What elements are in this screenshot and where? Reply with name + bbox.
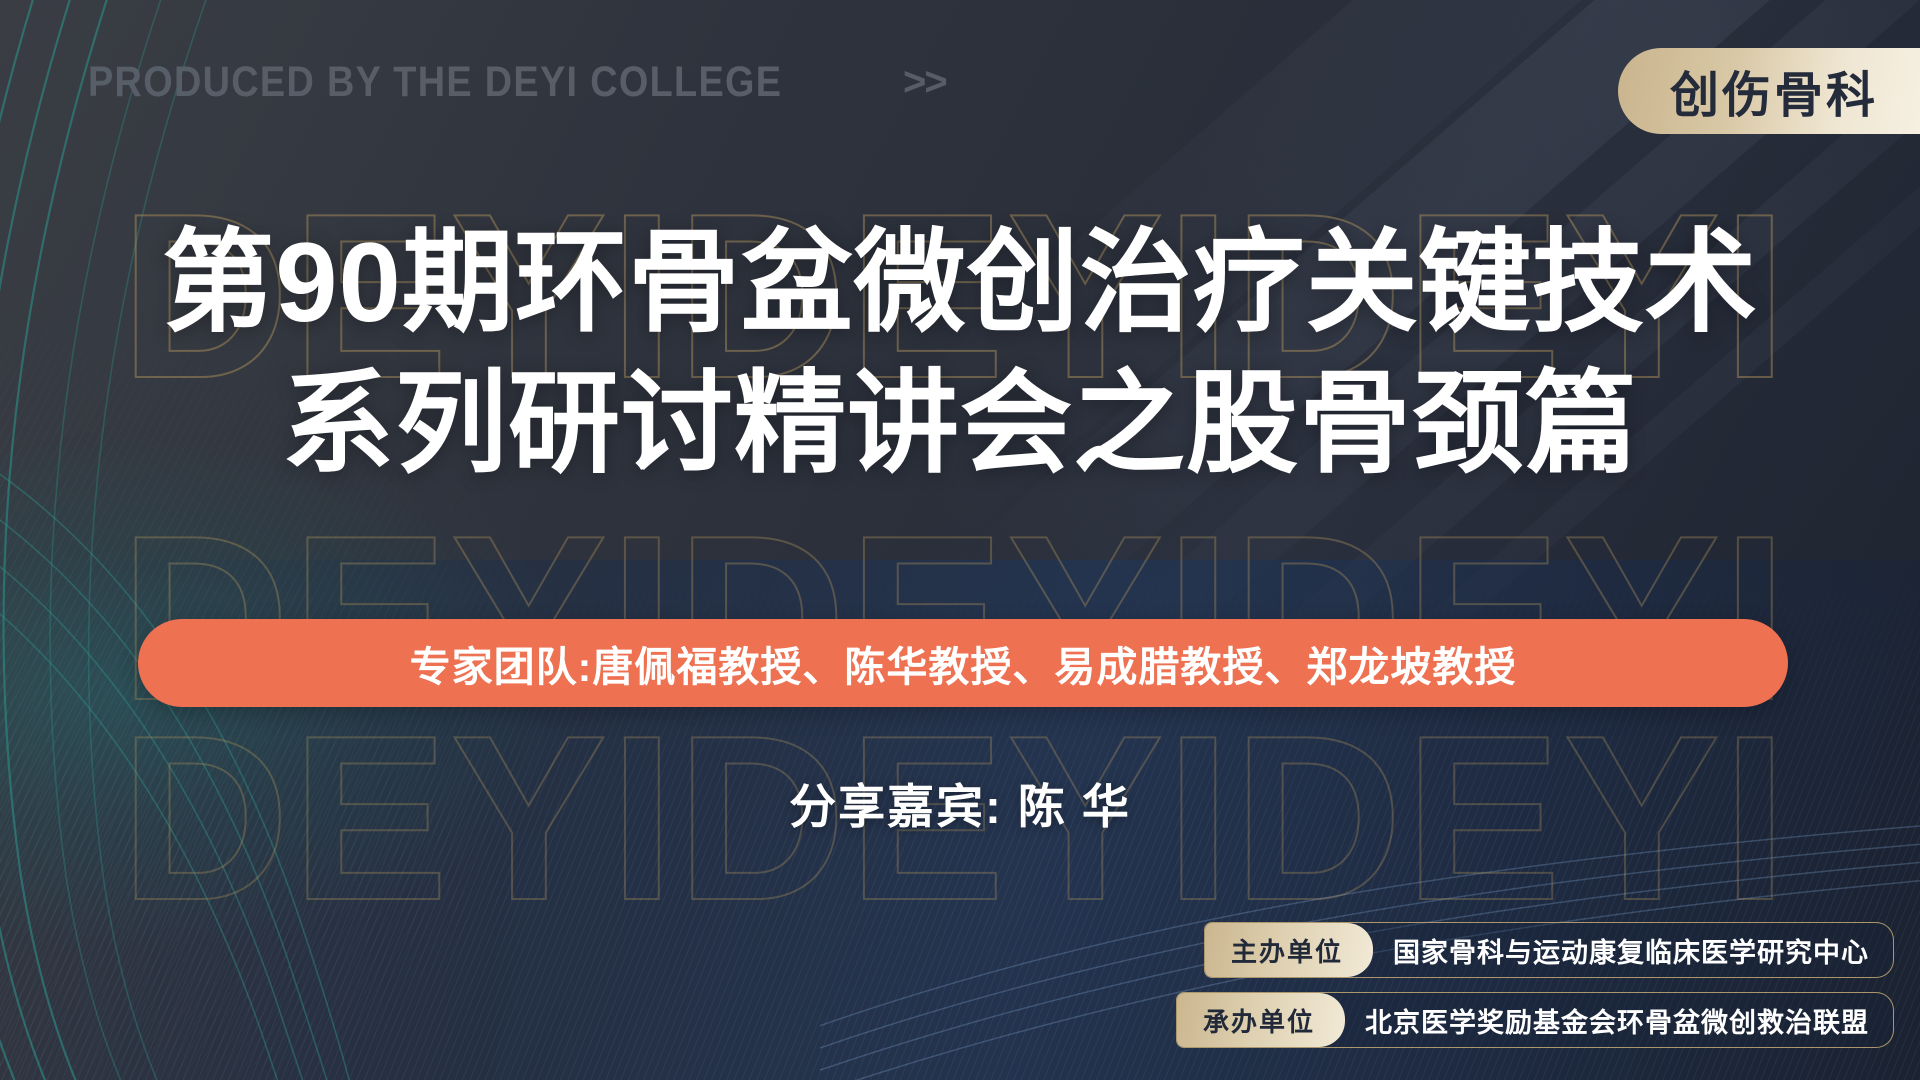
organizer-row-coorganizer: 承办单位 北京医学奖励基金会环骨盆微创救治联盟 [1176, 992, 1894, 1048]
organizer-row-host: 主办单位 国家骨科与运动康复临床医学研究中心 [1204, 922, 1894, 978]
organizer-label-host: 主办单位 [1205, 923, 1373, 977]
organizer-label-coorganizer: 承办单位 [1177, 993, 1345, 1047]
double-chevron-right-icon: >> [903, 60, 946, 105]
page-title: 第90期环骨盆微创治疗关键技术 系列研讨精讲会之股骨颈篇 [0, 212, 1920, 494]
title-line-2: 系列研讨精讲会之股骨颈篇 [0, 353, 1920, 494]
organizer-badges: 主办单位 国家骨科与运动康复临床医学研究中心 承办单位 北京医学奖励基金会环骨盆… [1176, 922, 1894, 1048]
header-produced-by: PRODUCED BY THE DEYI COLLEGE >> [88, 58, 946, 107]
organizer-value-coorganizer: 北京医学奖励基金会环骨盆微创救治联盟 [1345, 993, 1893, 1047]
category-badge-label: 创伤骨科 [1670, 56, 1878, 127]
title-line-1: 第90期环骨盆微创治疗关键技术 [0, 212, 1920, 353]
expert-team-banner: 专家团队:唐佩福教授、陈华教授、易成腊教授、郑龙坡教授 [138, 619, 1788, 707]
produced-by-label: PRODUCED BY THE DEYI COLLEGE [88, 58, 782, 107]
expert-team-label: 专家团队:唐佩福教授、陈华教授、易成腊教授、郑龙坡教授 [410, 633, 1517, 693]
slide-canvas: DEYIDEYIDEYI DEYIDEYIDEYI DEYIDEYIDEYI P… [0, 0, 1920, 1080]
category-badge: 创伤骨科 [1618, 48, 1920, 134]
speaker-label: 分享嘉宾: 陈 华 [0, 768, 1920, 837]
organizer-value-host: 国家骨科与运动康复临床医学研究中心 [1373, 923, 1893, 977]
